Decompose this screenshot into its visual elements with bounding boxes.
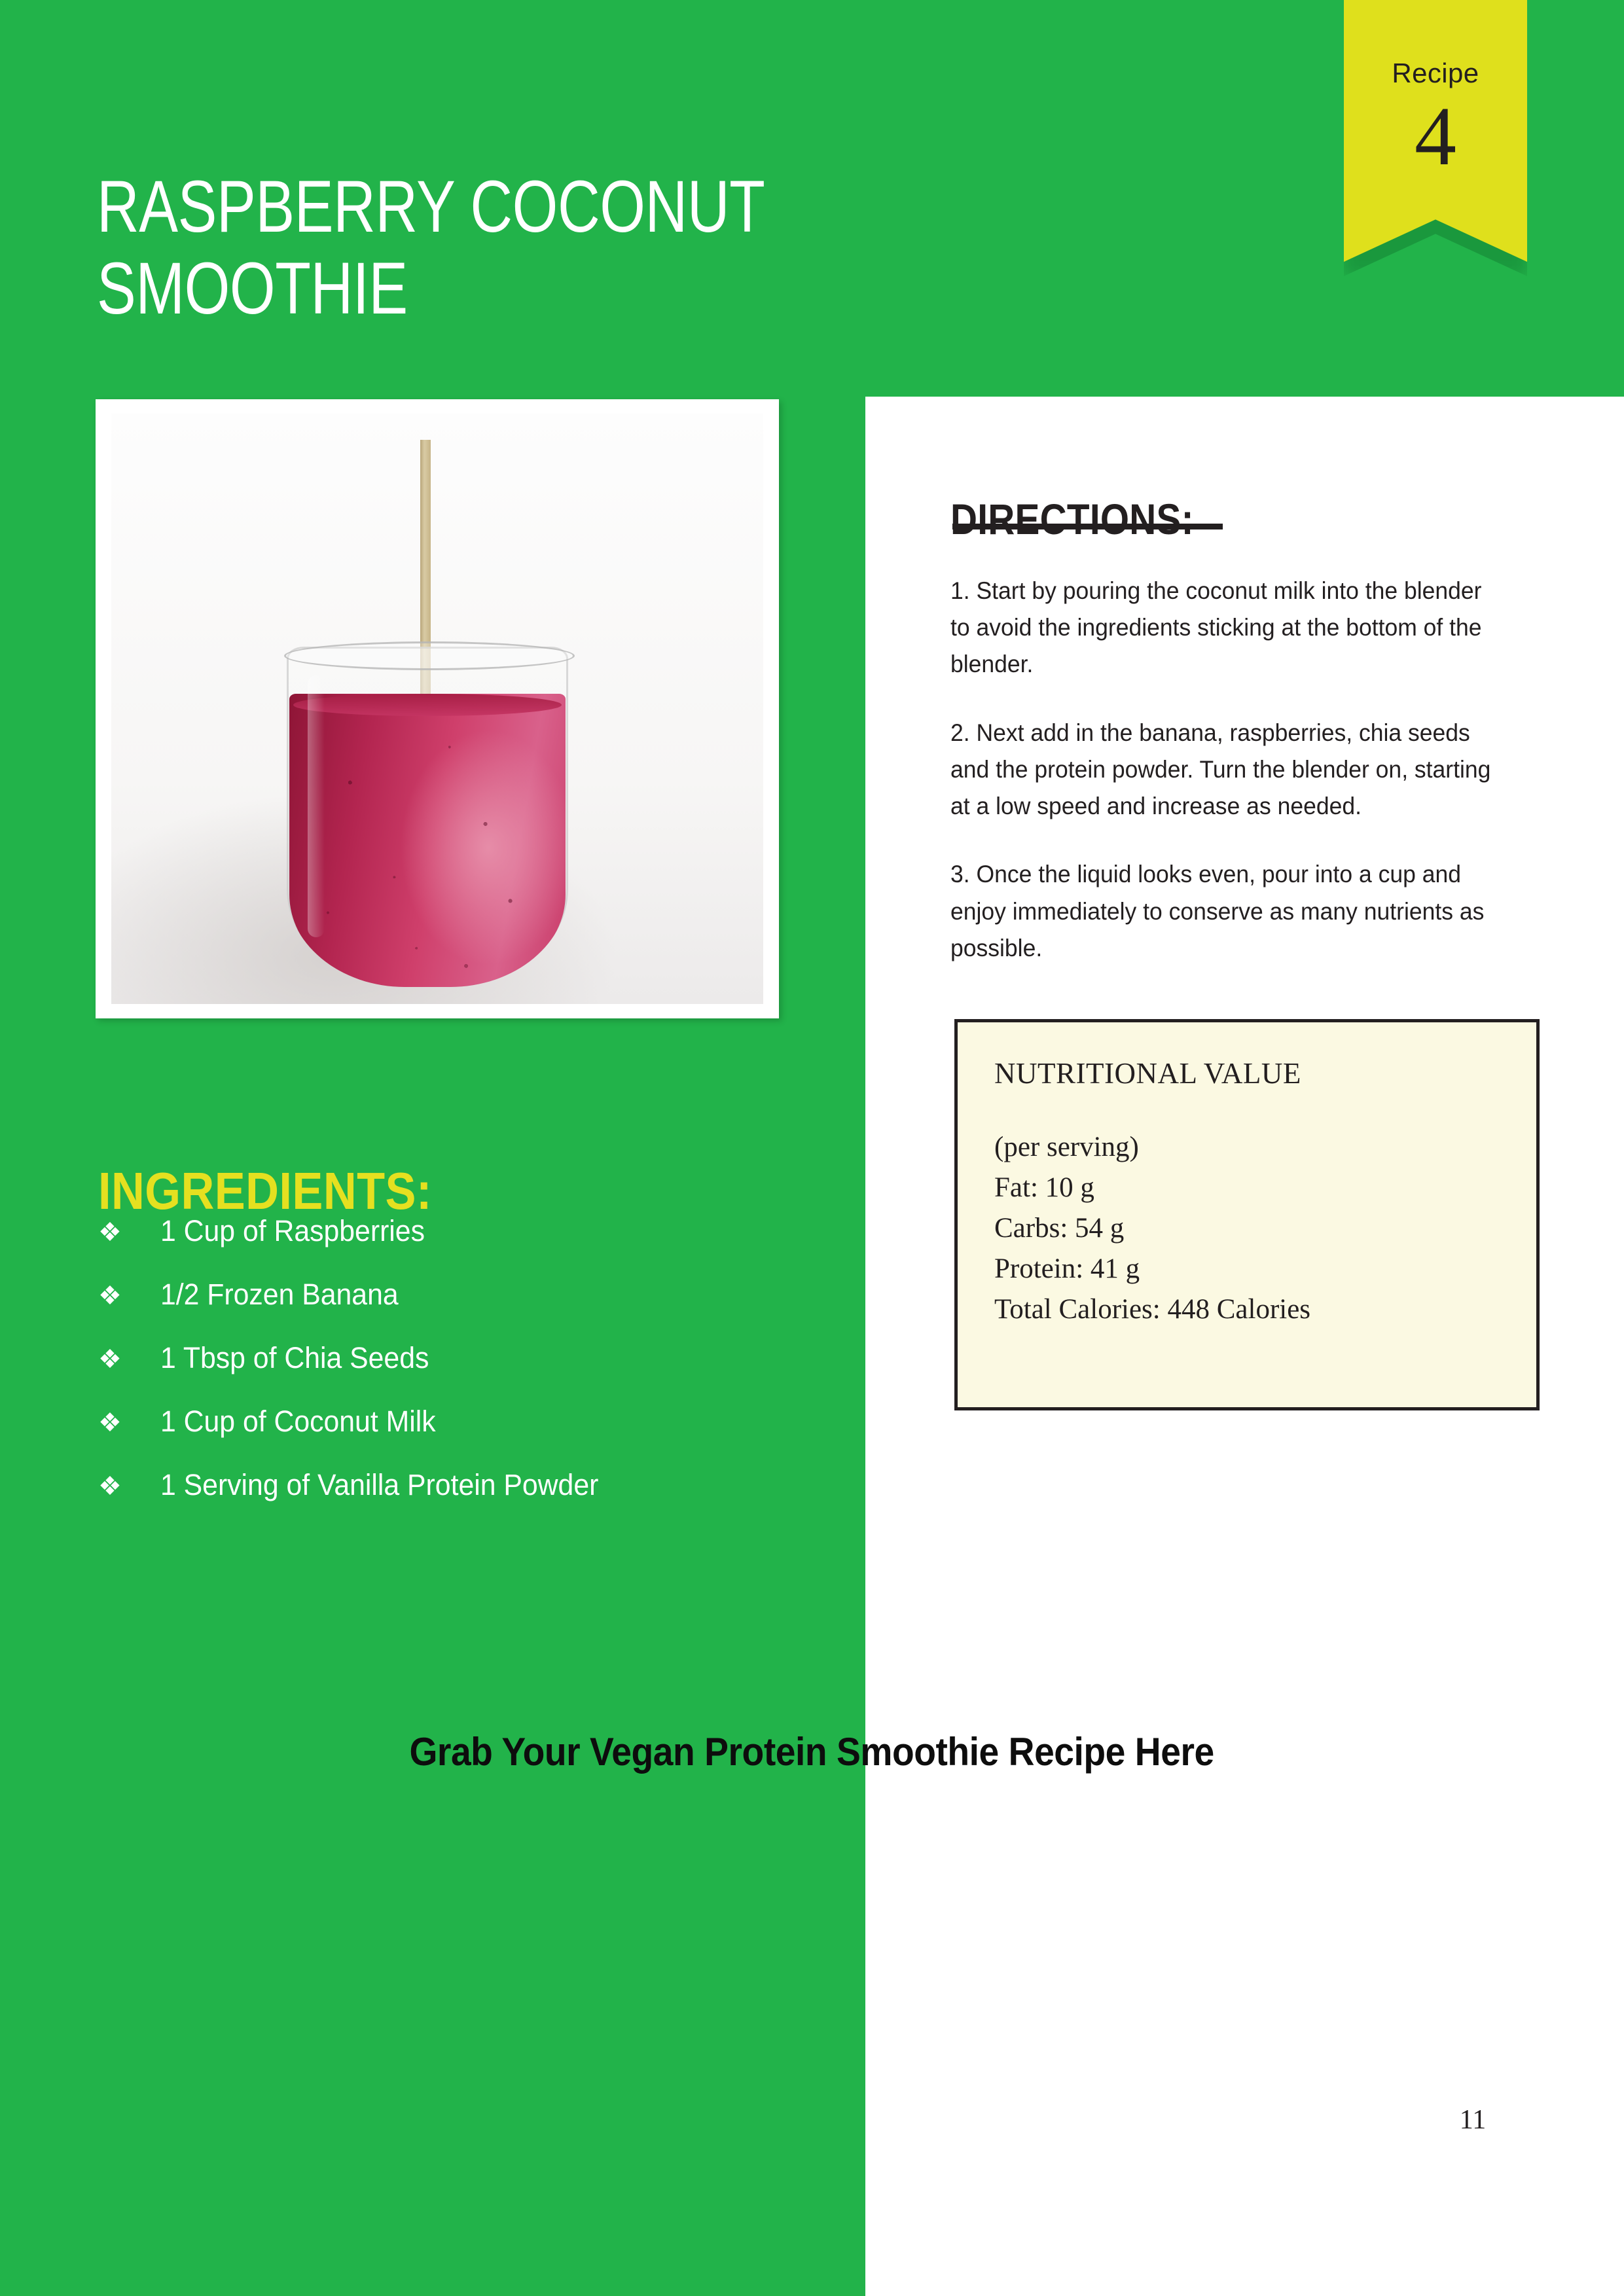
page-number: 11 xyxy=(1434,2104,1512,2136)
page-title: RASPBERRY COCONUT SMOOTHIE xyxy=(97,166,882,330)
glass-highlight xyxy=(308,675,325,937)
nutrition-fat: Fat: 10 g xyxy=(994,1168,1310,1208)
ingredient-label: 1 Serving of Vanilla Protein Powder xyxy=(160,1468,598,1502)
ingredient-label: 1 Tbsp of Chia Seeds xyxy=(160,1341,429,1375)
diamond-bullet-icon: ❖ xyxy=(98,1473,160,1499)
direction-step: 1. Start by pouring the coconut milk int… xyxy=(950,573,1491,683)
ingredients-list: ❖ 1 Cup of Raspberries ❖ 1/2 Frozen Bana… xyxy=(98,1214,851,1532)
ingredients-heading: INGREDIENTS: xyxy=(98,1161,432,1221)
smoothie-speckles xyxy=(289,694,566,987)
glass-graphic xyxy=(287,647,568,987)
nutrition-protein: Protein: 41 g xyxy=(994,1249,1310,1289)
nutritional-value-box: NUTRITIONAL VALUE (per serving) Fat: 10 … xyxy=(954,1019,1540,1410)
diamond-bullet-icon: ❖ xyxy=(98,1410,160,1436)
footer-cta-banner[interactable]: Grab Your Vegan Protein Smoothie Recipe … xyxy=(0,1729,1624,1788)
ribbon-number: 4 xyxy=(1344,94,1527,178)
nutrition-calories: Total Calories: 448 Calories xyxy=(994,1289,1310,1330)
glass-rim xyxy=(284,641,575,670)
direction-step: 2. Next add in the banana, raspberries, … xyxy=(950,715,1491,825)
ingredient-label: 1 Cup of Coconut Milk xyxy=(160,1405,436,1439)
ingredient-label: 1/2 Frozen Banana xyxy=(160,1278,399,1312)
directions-body: 1. Start by pouring the coconut milk int… xyxy=(950,548,1513,998)
diamond-bullet-icon: ❖ xyxy=(98,1346,160,1372)
directions-heading: DIRECTIONS: xyxy=(950,494,1194,544)
footer-cta-label[interactable]: Grab Your Vegan Protein Smoothie Recipe … xyxy=(410,1729,1214,1774)
smoothie-liquid xyxy=(289,694,566,987)
nutrition-lines: (per serving) Fat: 10 g Carbs: 54 g Prot… xyxy=(994,1127,1310,1330)
nutrition-carbs: Carbs: 54 g xyxy=(994,1208,1310,1249)
recipe-page: Recipe 4 RASPBERRY COCONUT SMOOTHIE INGR… xyxy=(0,0,1624,2296)
diamond-bullet-icon: ❖ xyxy=(98,1283,160,1309)
directions-underline xyxy=(952,524,1223,529)
recipe-photo xyxy=(111,414,763,1004)
ingredient-label: 1 Cup of Raspberries xyxy=(160,1214,425,1248)
nutrition-serving-note: (per serving) xyxy=(994,1127,1310,1168)
list-item: ❖ 1 Tbsp of Chia Seeds xyxy=(98,1341,851,1405)
list-item: ❖ 1 Cup of Raspberries xyxy=(98,1214,851,1278)
recipe-photo-frame xyxy=(96,399,779,1018)
list-item: ❖ 1 Cup of Coconut Milk xyxy=(98,1405,851,1468)
diamond-bullet-icon: ❖ xyxy=(98,1219,160,1246)
nutrition-title: NUTRITIONAL VALUE xyxy=(994,1056,1301,1090)
ribbon-label: Recipe xyxy=(1344,58,1527,89)
direction-step: 3. Once the liquid looks even, pour into… xyxy=(950,856,1491,967)
list-item: ❖ 1 Serving of Vanilla Protein Powder xyxy=(98,1468,851,1532)
list-item: ❖ 1/2 Frozen Banana xyxy=(98,1278,851,1341)
